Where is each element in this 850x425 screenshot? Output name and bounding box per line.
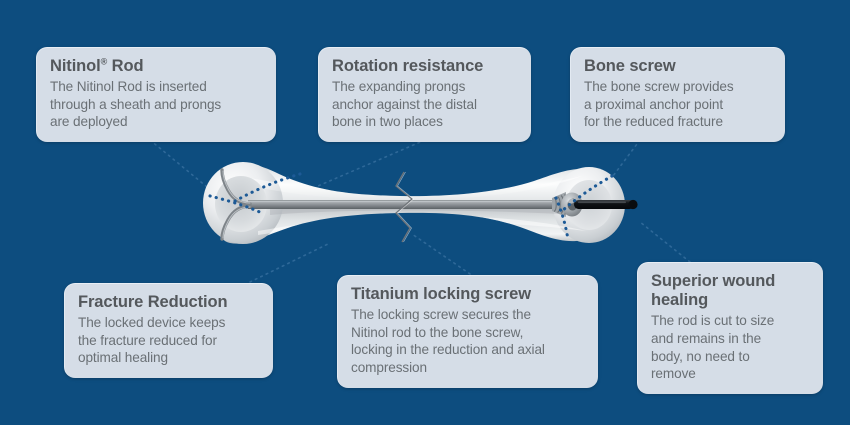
deployed-prongs — [222, 170, 250, 239]
callout-body: The Nitinol Rod is inserted through a sh… — [50, 78, 263, 131]
callout-title: Titanium locking screw — [351, 285, 585, 304]
distal-bone-end — [203, 162, 283, 244]
nitinol-rod — [248, 200, 566, 209]
medullary-cavity-right — [566, 180, 612, 230]
bone-screw — [552, 192, 583, 217]
callout-rotation-resistance[interactable]: Rotation resistance The expanding prongs… — [318, 47, 531, 142]
callout-bone-screw[interactable]: Bone screw The bone screw provides a pro… — [570, 47, 785, 142]
callout-fracture-reduction[interactable]: Fracture Reduction The locked device kee… — [64, 283, 273, 378]
callout-body: The locking screw secures the Nitinol ro… — [351, 306, 585, 377]
medullary-cavity-left — [215, 176, 267, 232]
leader-lines — [150, 140, 690, 282]
protruding-rod-tail — [574, 200, 638, 209]
callout-title: Superior wound healing — [651, 272, 810, 310]
callout-title: Nitinol® Rod — [50, 57, 263, 76]
fracture-line — [396, 172, 412, 242]
callout-superior-wound-healing[interactable]: Superior wound healing The rod is cut to… — [637, 262, 823, 394]
locking-screw-hub — [562, 193, 583, 217]
callout-title: Fracture Reduction — [78, 293, 260, 312]
callout-title: Rotation resistance — [332, 57, 518, 76]
callout-body: The bone screw provides a proximal ancho… — [584, 78, 772, 131]
callout-body: The expanding prongs anchor against the … — [332, 78, 518, 131]
anchor-indicator-dots — [210, 174, 612, 240]
callout-titanium-locking-screw[interactable]: Titanium locking screw The locking screw… — [337, 275, 598, 388]
callout-nitinol-rod[interactable]: Nitinol® Rod The Nitinol Rod is inserted… — [36, 47, 276, 142]
callout-body: The rod is cut to size and remains in th… — [651, 312, 810, 383]
callout-title: Bone screw — [584, 57, 772, 76]
proximal-bone-end — [553, 167, 625, 243]
infographic-canvas: Nitinol® Rod The Nitinol Rod is inserted… — [0, 0, 850, 425]
bone-body — [203, 162, 625, 244]
callout-body: The locked device keeps the fracture red… — [78, 314, 260, 367]
